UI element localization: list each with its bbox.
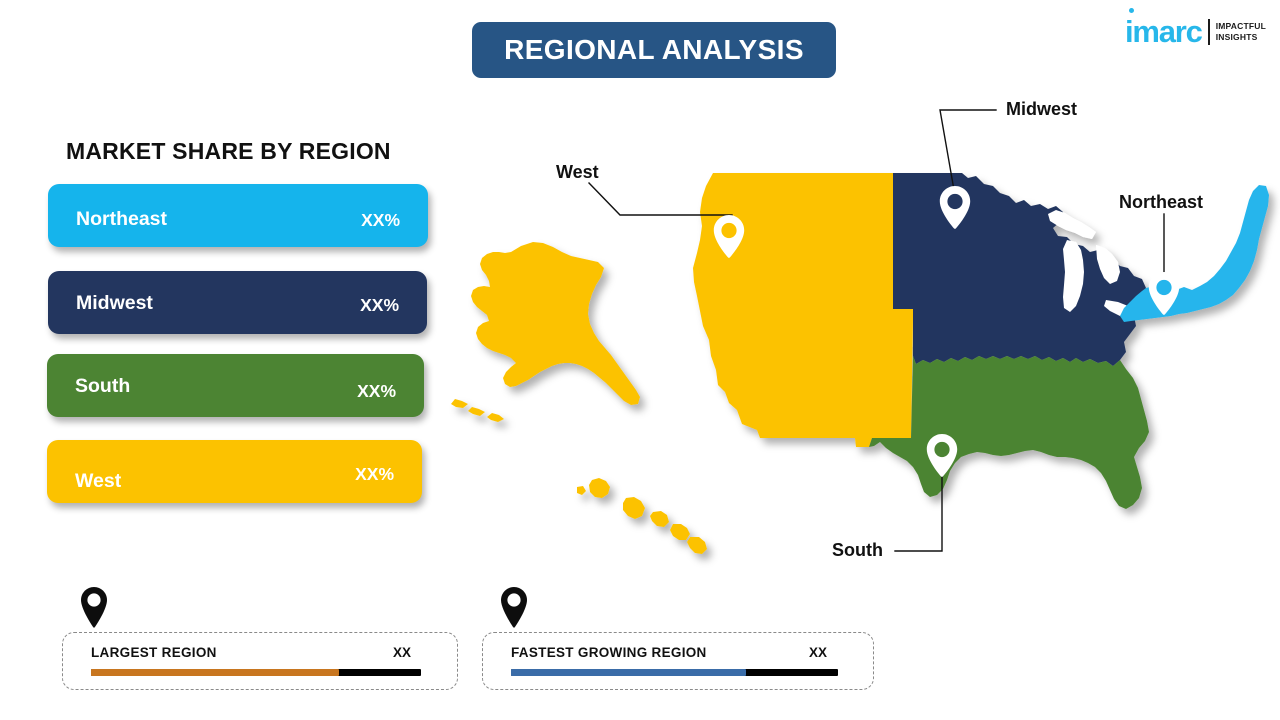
logo-dot-icon [1129, 8, 1134, 13]
map-pin-south[interactable] [927, 434, 957, 477]
map-pin-northeast[interactable] [1149, 272, 1179, 315]
share-bar-northeast[interactable]: Northeast XX% [48, 184, 428, 247]
stat-progress-fill [511, 669, 746, 676]
share-bar-west[interactable]: West XX% [47, 440, 422, 503]
share-bar-label: Midwest [76, 292, 153, 315]
share-bar-midwest[interactable]: Midwest XX% [48, 271, 427, 334]
map-region-hawaii[interactable] [577, 478, 707, 554]
logo-wordmark: imarc [1125, 16, 1202, 47]
share-bar-label: West [75, 470, 121, 493]
logo-tagline: IMPACTFUL INSIGHTS [1216, 21, 1266, 42]
aleutian-islands [451, 399, 504, 422]
map-pin-icon [78, 586, 110, 628]
imarc-logo: imarc IMPACTFUL INSIGHTS [1125, 16, 1266, 47]
map-pin-icon [498, 586, 530, 628]
stat-progress-track [511, 669, 838, 676]
largest-region-card[interactable]: LARGEST REGION XX [62, 632, 458, 690]
page-title: REGIONAL ANALYSIS [504, 34, 804, 66]
share-bar-label: South [75, 375, 130, 398]
share-bar-value: XX% [357, 381, 396, 402]
callout-leader-lines [589, 110, 1164, 551]
page-title-banner: REGIONAL ANALYSIS [472, 22, 836, 78]
map-pin-group [714, 186, 1179, 477]
stat-value: XX [393, 645, 411, 660]
map-pin-west[interactable] [714, 215, 744, 258]
stat-progress-track [91, 669, 421, 676]
callout-label-northeast: Northeast [1119, 192, 1203, 213]
great-lakes-michigan [1063, 240, 1084, 312]
great-lakes-superior [1048, 210, 1096, 239]
fastest-growing-region-card[interactable]: FASTEST GROWING REGION XX [482, 632, 874, 690]
share-bar-value: XX% [361, 210, 400, 231]
share-bar-south[interactable]: South XX% [47, 354, 424, 417]
stat-progress-fill [91, 669, 339, 676]
great-lakes-huron-erie [1096, 245, 1134, 318]
panel-title: MARKET SHARE BY REGION [66, 138, 391, 165]
stat-label: LARGEST REGION [91, 645, 217, 660]
map-region-south[interactable] [869, 356, 1149, 509]
stat-label: FASTEST GROWING REGION [511, 645, 707, 660]
share-bar-label: Northeast [76, 208, 167, 231]
stat-value: XX [809, 645, 827, 660]
share-bar-value: XX% [360, 295, 399, 316]
callout-label-midwest: Midwest [1006, 99, 1077, 120]
map-region-alaska[interactable] [471, 242, 640, 405]
logo-divider [1208, 19, 1210, 45]
map-pin-midwest[interactable] [940, 186, 970, 229]
callout-label-west: West [556, 162, 599, 183]
callout-label-south: South [832, 540, 883, 561]
map-region-midwest[interactable] [893, 173, 1146, 366]
map-region-west[interactable] [693, 173, 913, 447]
infographic-canvas: REGIONAL ANALYSIS imarc IMPACTFUL INSIGH… [0, 0, 1280, 720]
share-bar-value: XX% [355, 464, 394, 485]
